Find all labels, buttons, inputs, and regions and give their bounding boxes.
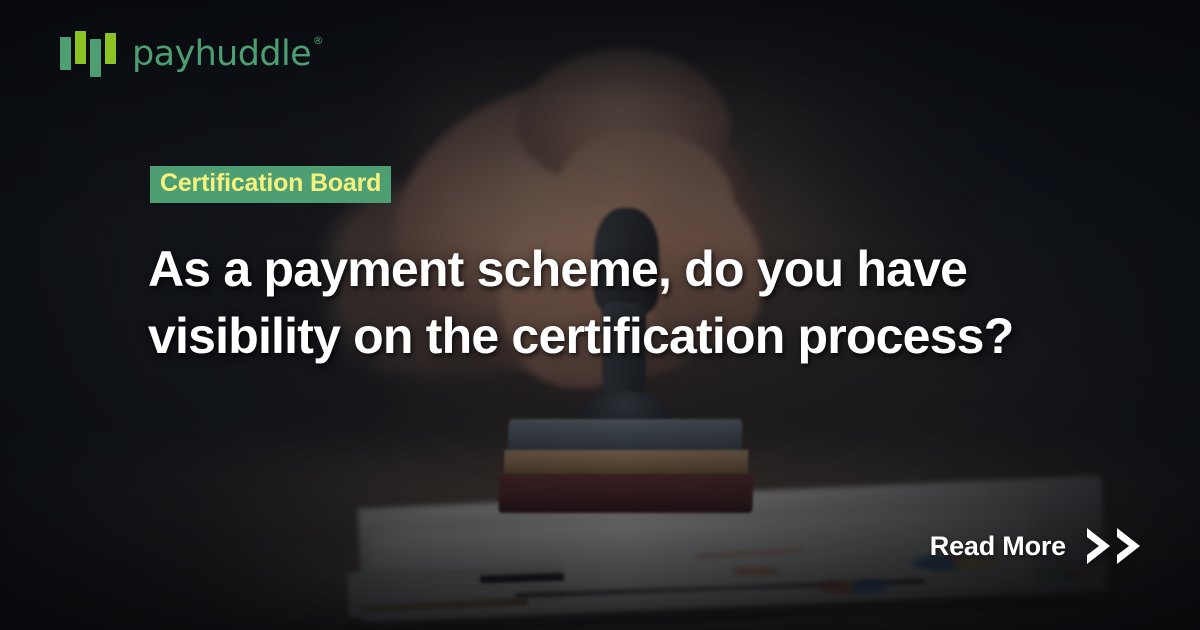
brand-name: payhuddle [132, 34, 311, 74]
payhuddle-bars-logo-icon [60, 31, 116, 77]
logo-bar-1 [60, 37, 71, 70]
brand-logo[interactable]: payhuddle ® [60, 31, 311, 77]
brand-wordmark: payhuddle ® [132, 37, 311, 77]
read-more-label: Read More [930, 533, 1066, 560]
logo-bar-4 [105, 33, 116, 64]
logo-bar-3 [90, 39, 101, 77]
banner-content: payhuddle ® Certification Board As a pay… [0, 0, 1200, 630]
category-badge: Certification Board [150, 166, 391, 203]
read-more-button[interactable]: Read More [930, 528, 1140, 564]
logo-bar-2 [75, 31, 86, 64]
hero-banner: payhuddle ® Certification Board As a pay… [0, 0, 1200, 630]
double-chevron-right-icon [1084, 528, 1140, 564]
registered-trademark-icon: ® [313, 35, 323, 46]
headline-title: As a payment scheme, do you have visibil… [148, 236, 1048, 370]
